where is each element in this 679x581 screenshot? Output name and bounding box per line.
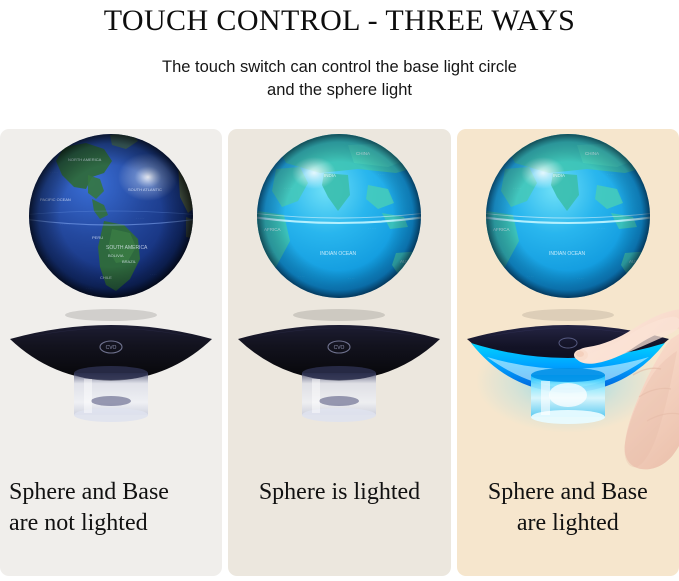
globe-edge-shading: [257, 134, 421, 298]
base-badge-text: CVO: [106, 345, 117, 351]
pedestal-top-rim: [74, 366, 148, 380]
panel-sphere-base-lighted: CHINA INDIA INDIAN OCEAN AUSTRALIA AFRIC…: [457, 129, 679, 576]
panel-3-caption-line-2: are lighted: [460, 508, 676, 539]
globe-edge-shading: [29, 134, 193, 298]
panel-3-caption-line-1: Sphere and Base: [460, 477, 676, 508]
subtitle-line-2: and the sphere light: [0, 79, 679, 102]
panel-row: NORTH AMERICA SOUTH AMERICA BRAZIL PERU …: [0, 129, 679, 576]
subtitle-line-1: The touch switch can control the base li…: [0, 56, 679, 79]
product-image-all-lit: CHINA INDIA INDIAN OCEAN AUSTRALIA AFRIC…: [457, 129, 679, 477]
pedestal-highlight: [84, 379, 92, 413]
levitation-shadow: [65, 309, 157, 321]
product-image-sphere-lit: CHINA INDIA INDIAN OCEAN AUSTRALIA AFRIC…: [228, 129, 450, 477]
base-unit-unlit: CVO: [238, 325, 440, 422]
product-image-unlit: NORTH AMERICA SOUTH AMERICA BRAZIL PERU …: [0, 129, 222, 477]
base-unit-unlit: CVO: [10, 325, 212, 422]
pedestal-highlight: [312, 379, 320, 413]
globe-edge-shading: [486, 134, 650, 298]
infographic-header: TOUCH CONTROL - THREE WAYS The touch swi…: [0, 0, 679, 102]
page-title: TOUCH CONTROL - THREE WAYS: [0, 4, 679, 38]
base-badge-text: CVO: [334, 345, 345, 351]
pedestal-core-light: [549, 383, 587, 407]
globe-base-illustration-unlit: NORTH AMERICA SOUTH AMERICA BRAZIL PERU …: [0, 129, 222, 477]
pedestal-top-rim: [302, 366, 376, 380]
globe-base-illustration-sphere-lit: CHINA INDIA INDIAN OCEAN AUSTRALIA AFRIC…: [228, 129, 450, 477]
panel-sphere-base-not-lighted: NORTH AMERICA SOUTH AMERICA BRAZIL PERU …: [0, 129, 222, 576]
pedestal-inner-core: [91, 396, 131, 406]
levitation-shadow: [293, 309, 385, 321]
pedestal-inner-core: [319, 396, 359, 406]
panel-2-caption-line-1: Sphere is lighted: [231, 477, 447, 508]
fingernail: [576, 351, 584, 357]
pedestal-top-rim: [531, 368, 605, 382]
globe-base-illustration-all-lit: CHINA INDIA INDIAN OCEAN AUSTRALIA AFRIC…: [457, 129, 679, 477]
subtitle: The touch switch can control the base li…: [0, 56, 679, 102]
panel-1-caption: Sphere and Base are not lighted: [0, 477, 222, 539]
panel-3-caption: Sphere and Base are lighted: [457, 477, 679, 539]
levitation-shadow: [522, 309, 614, 321]
panel-sphere-is-lighted: CHINA INDIA INDIAN OCEAN AUSTRALIA AFRIC…: [228, 129, 450, 576]
panel-2-caption: Sphere is lighted: [228, 477, 450, 508]
panel-1-caption-line-1: Sphere and Base: [9, 477, 219, 508]
panel-1-caption-line-2: are not lighted: [9, 508, 219, 539]
pedestal-highlight: [541, 381, 550, 415]
